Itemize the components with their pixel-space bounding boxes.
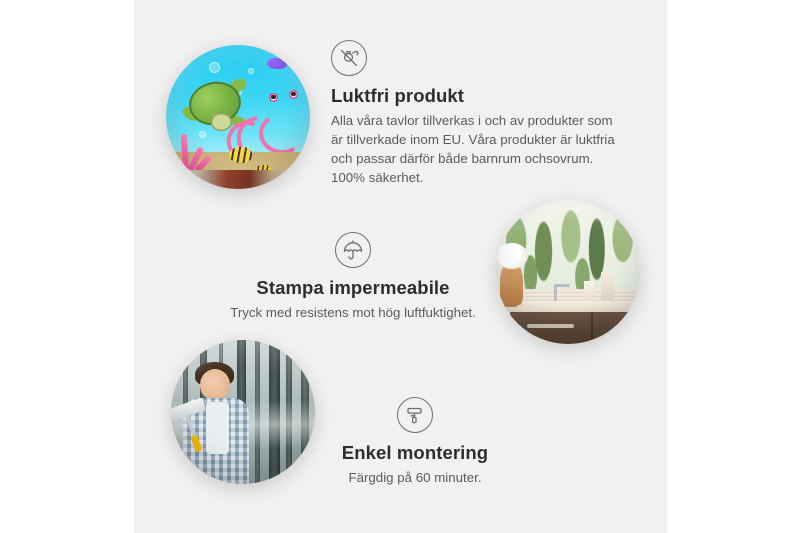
feature-description: Alla våra tavlor tillverkas i och av pro… <box>331 112 623 188</box>
paint-roller-icon <box>397 397 433 433</box>
feature-copy-odourless: Luktfri produkt Alla våra tavlor tillver… <box>331 40 623 188</box>
feature-description: Tryck med resistens mot hög luftfuktighe… <box>208 304 498 323</box>
feature-title: Enkel montering <box>300 442 530 464</box>
feature-image-installer <box>171 340 315 484</box>
feature-title: Stampa impermeabile <box>208 277 498 299</box>
feature-image-bathroom <box>496 200 640 344</box>
product-feature-infographic: Luktfri produkt Alla våra tavlor tillver… <box>0 0 800 533</box>
feature-copy-easy-mounting: Enkel montering Färgdig på 60 minuter. <box>300 397 530 488</box>
umbrella-icon <box>335 232 371 268</box>
feature-image-underwater <box>166 45 310 189</box>
no-fragrance-icon <box>331 40 367 76</box>
feature-description: Färgdig på 60 minuter. <box>300 469 530 488</box>
feature-title: Luktfri produkt <box>331 85 623 107</box>
feature-copy-waterproof: Stampa impermeabile Tryck med resistens … <box>208 232 498 323</box>
